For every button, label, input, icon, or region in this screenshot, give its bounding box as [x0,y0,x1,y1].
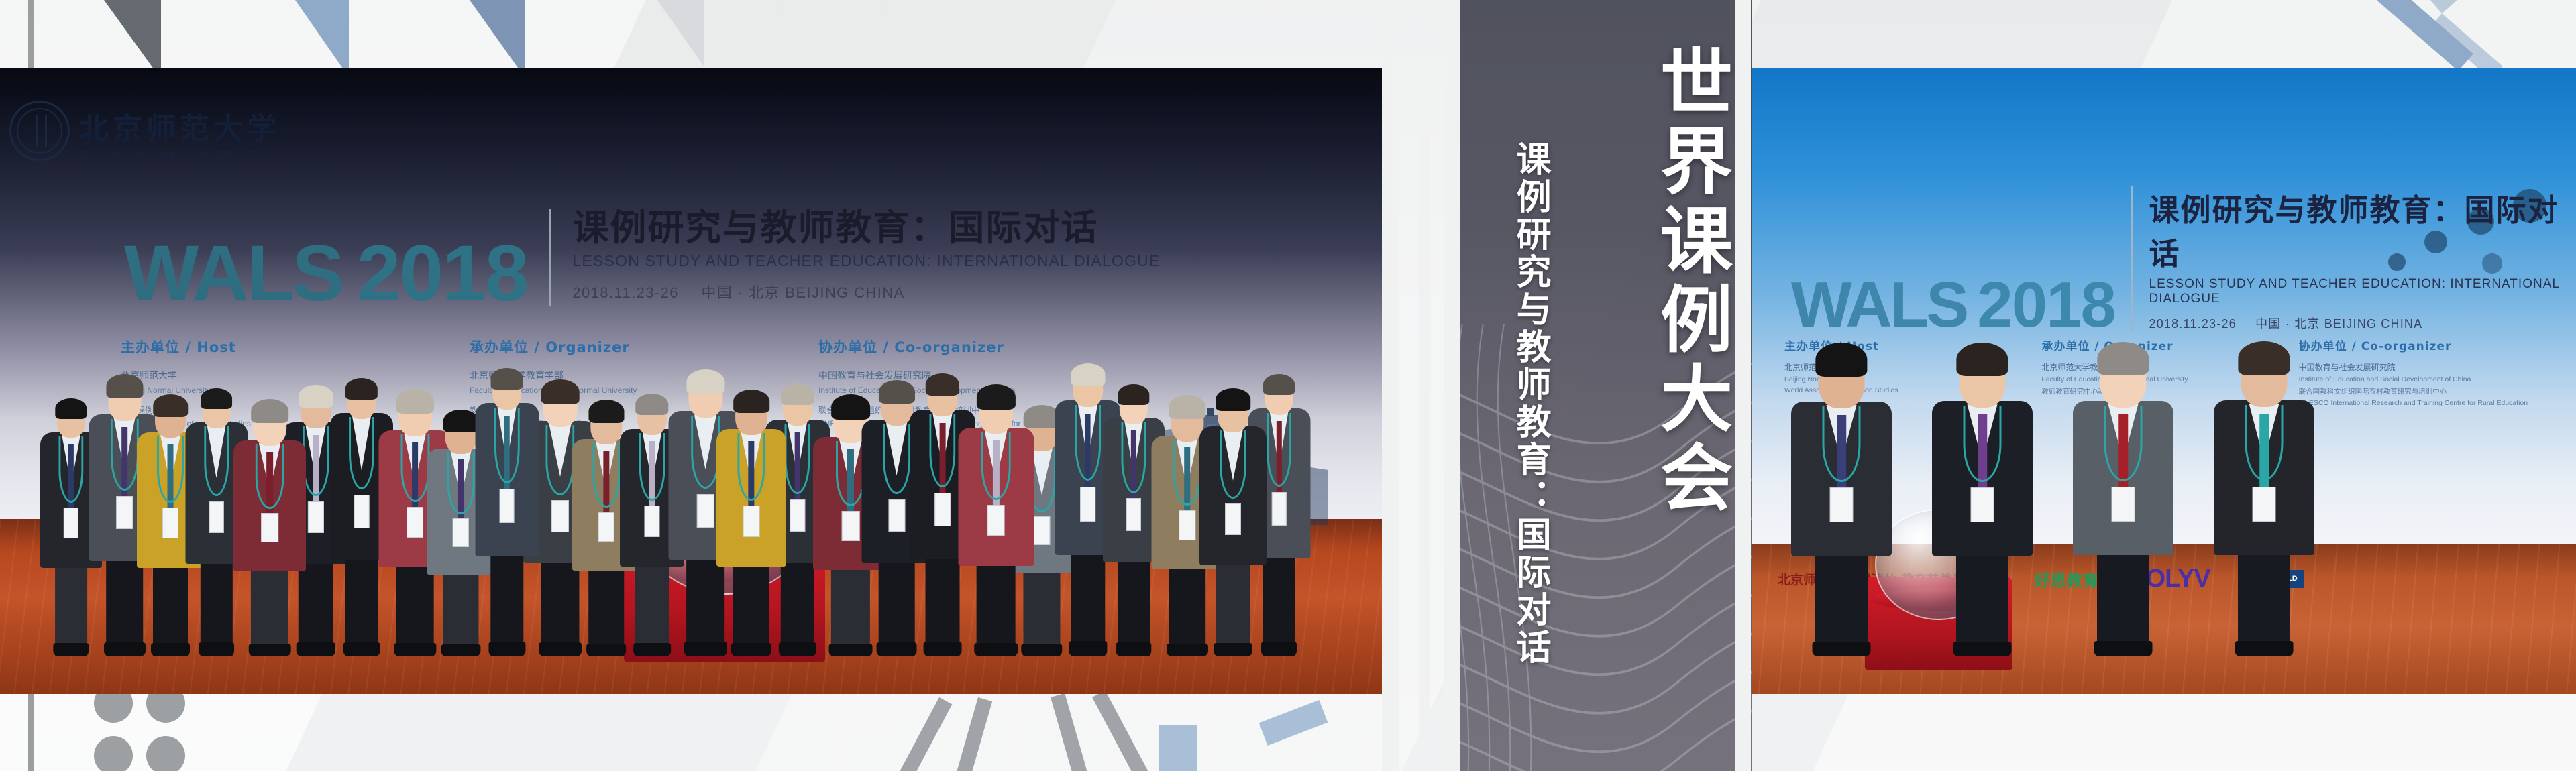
seam-stripe-2 [1419,0,1430,771]
delegate-badge [453,518,469,547]
delegate-shoes [1214,643,1252,656]
delegate-figure [475,323,539,656]
delegate-badge [116,496,133,530]
delegate-hair [1071,363,1105,385]
delegate-badge [2253,487,2276,522]
photo-group-launch: WALS 2018 课例研究与教师教育：国际对话 LESSON STUDY AN… [1751,68,2576,694]
delegate-legs [251,560,288,656]
delegate-lanyard [302,426,329,496]
delegate-badge [743,506,760,537]
delegate-badge [987,505,1005,536]
delegate-badge [354,495,370,528]
delegate-legs [1118,550,1150,656]
delegate-lanyard [204,426,229,496]
delegate-figure [958,355,1034,656]
delegate-badge [162,508,178,538]
delegate-shoes [731,643,771,656]
delegate-lanyard [1075,405,1102,481]
delegate-badge [261,513,278,542]
delegate-legs [635,554,669,656]
delegate-hair [588,400,624,423]
delegate-lanyard [2104,406,2143,481]
delegate-shoes [2094,641,2153,656]
delegate-legs [443,563,478,656]
delegate-lanyard [1823,406,1861,482]
delegate-hair [345,378,378,400]
delegate-badge [934,493,951,526]
conference-title-cn: 课例研究与教师教育：国际对话 [2149,186,2576,273]
delegate-hair [443,410,479,432]
delegate-legs [976,554,1016,656]
seam-stripe-4 [1735,0,1751,771]
delegate-figure [1199,353,1267,656]
delegate-badge [1033,516,1050,545]
delegate-badge [1225,503,1241,535]
delegate-hair [1815,343,1867,377]
delegate-hair [733,390,769,413]
delegate-shoes [249,644,291,656]
delegate-badge [696,494,714,528]
delegate-lanyard [400,434,429,501]
delegate-legs [153,556,188,656]
delegate-lanyard [2245,405,2284,481]
delegate-hair [976,384,1015,410]
panel-subtitle: 课例研究与教师教育：国际对话 [1511,141,1548,666]
delegate-hair [153,394,188,417]
delegate-hair [490,368,523,390]
delegate-legs [588,559,625,656]
delegate-lanyard [58,436,83,503]
delegate-lanyard [883,424,911,494]
delegate-badge [209,501,223,534]
delegate-badge [551,500,569,532]
conference-title-en: LESSON STUDY AND TEACHER EDUCATION: INTE… [572,252,1160,270]
decor-triangle-blue-1 [295,0,349,77]
screenshot-canvas: 北京师范大学 BEIJING NORMAL UNIVERSITY WALS 20… [0,0,2576,771]
delegate-lanyard [1267,413,1292,487]
delegate-legs [55,556,87,656]
delegate-hair [2097,342,2149,376]
delegate-figure [2073,320,2173,656]
delegate-badge [644,506,659,537]
delegate-badge [64,508,78,538]
decor-triangle-gray-1 [657,0,704,67]
delegate-badge [1971,487,1994,522]
delegate-hair [201,388,233,409]
conference-title-cn: 课例研究与教师教育：国际对话 [572,209,1160,247]
delegate-legs [733,554,769,656]
decor-chevron-gray-fan [939,697,1154,771]
delegate-figure [233,372,306,656]
delegate-badge [598,512,614,542]
delegate-shoes [1953,642,2012,657]
delegate-figure [1932,320,2033,656]
delegate-lanyard [691,416,720,489]
delegate-lanyard [256,444,284,508]
delegate-lanyard [1220,430,1246,499]
delegate-legs [926,546,960,656]
delegate-shoes [199,642,235,656]
delegate-hair [2238,341,2290,375]
delegate-shoes [2235,641,2294,656]
delegate-hair [1216,388,1250,411]
delegate-hair [251,399,288,423]
delegate-legs [1815,542,1868,656]
delegate-legs [345,548,378,657]
delegate-shoes [53,643,89,656]
delegate-lanyard [737,433,765,501]
delegate-shoes [1116,642,1151,656]
delegate-lanyard [157,436,184,503]
delegate-lanyard [349,417,374,489]
delegate-figure [1791,321,1892,656]
delegate-lanyard [1121,422,1146,493]
seam-stripe-1 [1382,0,1399,771]
delegate-badge [888,499,905,532]
delegate-legs [1071,542,1105,656]
bnu-name-en: BEIJING NORMAL UNIVERSITY [79,149,280,158]
delegate-lanyard [981,432,1010,500]
delegate-figure [716,357,786,656]
delegate-badge [1126,498,1141,531]
delegate-badge [307,501,323,534]
delegate-lanyard [110,419,138,491]
delegate-hair [1263,374,1295,395]
delegate-shoes [343,642,380,657]
delegate-hair [635,394,668,415]
delegate-lanyard [1964,406,2002,481]
delegate-badge [1830,487,1854,522]
delegate-badge [1179,510,1196,540]
delegates-row [0,269,1382,656]
delegate-badge [407,507,424,538]
decor-triangle-dark [104,0,161,79]
delegate-shoes [924,642,962,656]
delegate-lanyard [447,452,475,514]
delegate-shoes [1069,641,1107,656]
delegate-shoes [633,643,671,656]
decor-rect-blue-1 [1159,725,1197,771]
delegate-shoes [974,643,1018,656]
panel-main-title: 世界课例大会 [1652,44,1727,519]
decor-triangle-blue-2 [470,0,525,77]
delegate-badge [499,489,515,524]
delegate-lanyard [784,424,810,494]
delegate-hair [55,398,87,419]
delegate-legs [2238,542,2290,656]
delegate-legs [200,552,232,656]
delegate-legs [1216,553,1250,656]
vertical-title-panel: 世界课例大会 课例研究与教师教育：国际对话 [1459,0,1752,771]
delegate-hair [1956,343,2008,377]
delegate-badge [790,499,805,532]
delegate-badge [1271,492,1286,526]
delegate-shoes [488,642,525,656]
delegate-legs [490,543,523,656]
delegate-lanyard [545,425,574,495]
delegate-hair [1118,384,1149,405]
delegate-shoes [1813,642,1871,657]
photo-group-ceremony: 北京师范大学 BEIJING NORMAL UNIVERSITY WALS 20… [0,68,1382,694]
decor-dot-grid [94,684,228,771]
bnu-name-cn: 北京师范大学 [79,115,280,144]
launch-participants-row [1751,269,2576,656]
delegate-lanyard [639,433,665,501]
delegate-badge [2112,487,2135,522]
seam-stripe-3 [1444,0,1460,771]
delegate-legs [2097,542,2149,656]
delegate-lanyard [592,442,620,508]
delegate-shoes [151,643,190,656]
delegate-hair [926,373,959,396]
delegate-badge [1080,487,1096,522]
delegate-badge [842,511,860,541]
bnu-seal-icon [9,101,70,161]
delegate-legs [1263,545,1295,656]
bnu-logo: 北京师范大学 BEIJING NORMAL UNIVERSITY [9,101,280,161]
delegate-figure [2214,319,2314,656]
delegate-legs [1956,542,2008,656]
